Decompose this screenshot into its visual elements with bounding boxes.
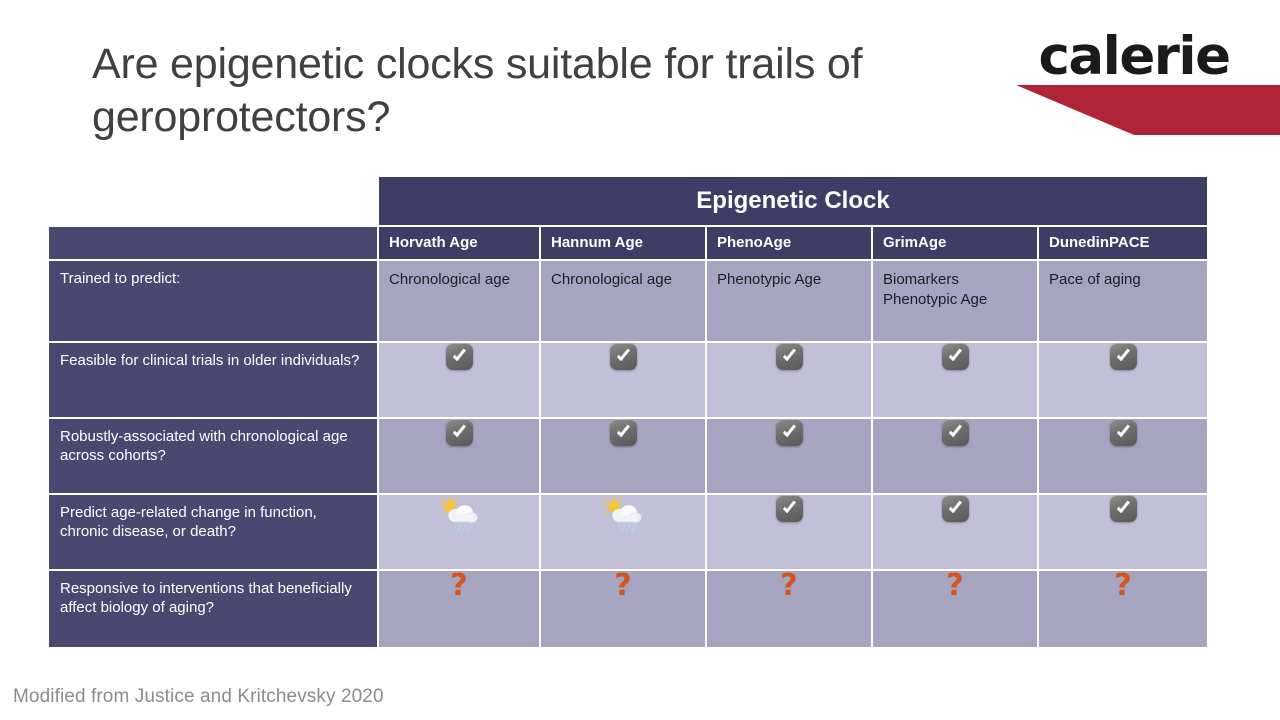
column-header-2: PhenoAge bbox=[706, 226, 872, 260]
cell-r3-c3 bbox=[872, 494, 1038, 570]
question-mark-icon: ? bbox=[450, 571, 467, 601]
cell-r1-c0 bbox=[378, 342, 540, 418]
question-mark-icon: ? bbox=[946, 571, 963, 601]
row-label-0: Trained to predict: bbox=[48, 260, 378, 342]
comparison-table-wrapper: Epigenetic ClockHorvath AgeHannum AgePhe… bbox=[48, 176, 1208, 648]
cell-r1-c4 bbox=[1038, 342, 1208, 418]
row-label-2: Robustly-associated with chronological a… bbox=[48, 418, 378, 494]
cell-r0-c1: Chronological age bbox=[540, 260, 706, 342]
cell-r0-c3: Biomarkers Phenotypic Age bbox=[872, 260, 1038, 342]
column-header-4: DunedinPACE bbox=[1038, 226, 1208, 260]
check-icon bbox=[610, 343, 637, 370]
row-label-1: Feasible for clinical trials in older in… bbox=[48, 342, 378, 418]
row-label-3: Predict age-related change in function, … bbox=[48, 494, 378, 570]
source-attribution: Modified from Justice and Kritchevsky 20… bbox=[13, 686, 384, 708]
check-icon bbox=[942, 343, 969, 370]
table-super-header-row: Epigenetic Clock bbox=[48, 176, 1208, 226]
column-header-3: GrimAge bbox=[872, 226, 1038, 260]
column-header-0: Horvath Age bbox=[378, 226, 540, 260]
sun-behind-rain-cloud-icon bbox=[602, 495, 644, 535]
check-icon bbox=[1110, 419, 1137, 446]
cell-r4-c4: ? bbox=[1038, 570, 1208, 648]
cell-r2-c4 bbox=[1038, 418, 1208, 494]
check-icon bbox=[446, 343, 473, 370]
table-corner-header bbox=[48, 226, 378, 260]
cell-r1-c1 bbox=[540, 342, 706, 418]
cell-r2-c2 bbox=[706, 418, 872, 494]
check-icon bbox=[776, 495, 803, 522]
check-icon bbox=[1110, 343, 1137, 370]
cell-r4-c0: ? bbox=[378, 570, 540, 648]
column-header-1: Hannum Age bbox=[540, 226, 706, 260]
cell-r3-c4 bbox=[1038, 494, 1208, 570]
calerie-logo: calerie bbox=[1016, 30, 1252, 135]
cell-r2-c3 bbox=[872, 418, 1038, 494]
table-row: Trained to predict:Chronological ageChro… bbox=[48, 260, 1208, 342]
logo-wordmark: calerie bbox=[1016, 30, 1252, 83]
cell-r1-c2 bbox=[706, 342, 872, 418]
cell-r0-c4: Pace of aging bbox=[1038, 260, 1208, 342]
check-icon bbox=[1110, 495, 1137, 522]
row-label-4: Responsive to interventions that benefic… bbox=[48, 570, 378, 648]
cell-r4-c3: ? bbox=[872, 570, 1038, 648]
check-icon bbox=[776, 419, 803, 446]
question-mark-icon: ? bbox=[1114, 571, 1131, 601]
check-icon bbox=[446, 419, 473, 446]
cell-r3-c1 bbox=[540, 494, 706, 570]
logo-triangle-icon bbox=[1016, 85, 1280, 135]
table-corner-spacer bbox=[48, 176, 378, 226]
table-super-header: Epigenetic Clock bbox=[378, 176, 1208, 226]
cell-r3-c2 bbox=[706, 494, 872, 570]
epigenetic-clock-table: Epigenetic ClockHorvath AgeHannum AgePhe… bbox=[48, 176, 1208, 648]
table-row: Predict age-related change in function, … bbox=[48, 494, 1208, 570]
cell-r4-c2: ? bbox=[706, 570, 872, 648]
check-icon bbox=[610, 419, 637, 446]
cell-r0-c0: Chronological age bbox=[378, 260, 540, 342]
table-row: Feasible for clinical trials in older in… bbox=[48, 342, 1208, 418]
sun-behind-rain-cloud-icon bbox=[438, 495, 480, 535]
check-icon bbox=[776, 343, 803, 370]
question-mark-icon: ? bbox=[614, 571, 631, 601]
cell-r2-c0 bbox=[378, 418, 540, 494]
cell-r2-c1 bbox=[540, 418, 706, 494]
check-icon bbox=[942, 495, 969, 522]
cell-r4-c1: ? bbox=[540, 570, 706, 648]
cell-r1-c3 bbox=[872, 342, 1038, 418]
page-title: Are epigenetic clocks suitable for trail… bbox=[92, 38, 1022, 145]
question-mark-icon: ? bbox=[780, 571, 797, 601]
cell-r0-c2: Phenotypic Age bbox=[706, 260, 872, 342]
table-header-row: Horvath AgeHannum AgePhenoAgeGrimAgeDune… bbox=[48, 226, 1208, 260]
check-icon bbox=[942, 419, 969, 446]
cell-r3-c0 bbox=[378, 494, 540, 570]
table-row: Responsive to interventions that benefic… bbox=[48, 570, 1208, 648]
table-row: Robustly-associated with chronological a… bbox=[48, 418, 1208, 494]
